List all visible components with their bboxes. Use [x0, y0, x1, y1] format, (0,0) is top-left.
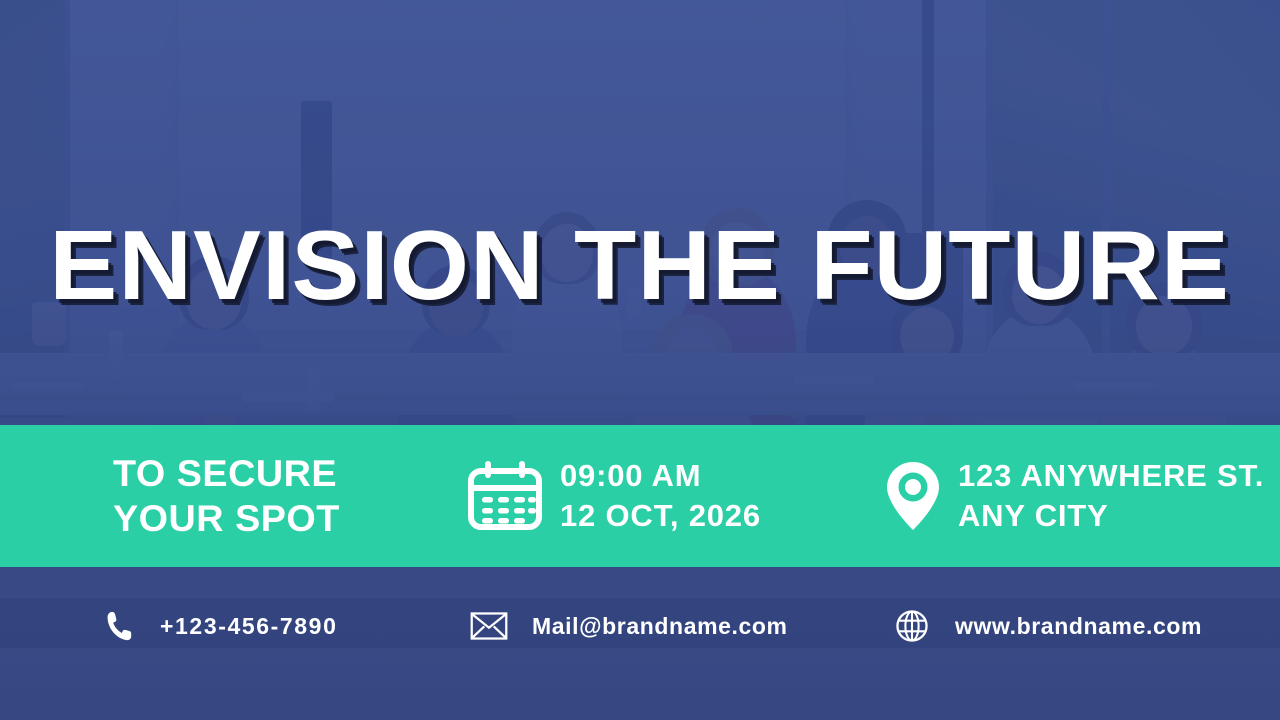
globe-icon	[893, 609, 931, 643]
website-url: www.brandname.com	[955, 613, 1202, 640]
location-block: 123 ANYWHERE ST. ANY CITY	[884, 456, 1264, 535]
cta-text: TO SECURE YOUR SPOT	[113, 451, 340, 541]
phone-icon	[100, 609, 138, 643]
event-date: 12 OCT, 2026	[560, 496, 761, 536]
event-time: 09:00 AM	[560, 456, 761, 496]
headline-container: ENVISION THE FUTURE	[0, 216, 1280, 314]
date-block: 09:00 AM 12 OCT, 2026	[466, 456, 761, 535]
contact-email[interactable]: Mail@brandname.com	[470, 609, 788, 643]
address-text: 123 ANYWHERE ST. ANY CITY	[958, 456, 1264, 535]
info-band: TO SECURE YOUR SPOT	[0, 425, 1280, 567]
cta-line-1: TO SECURE	[113, 451, 340, 496]
page-title: ENVISION THE FUTURE	[50, 216, 1231, 314]
contact-bar: +123-456-7890 Mail@brandname.com www.bra…	[0, 567, 1280, 720]
contact-website[interactable]: www.brandname.com	[893, 609, 1202, 643]
address-line-2: ANY CITY	[958, 496, 1264, 536]
event-banner: ENVISION THE FUTURE TO SECURE YOUR SPOT	[0, 0, 1280, 720]
calendar-icon	[466, 460, 544, 532]
address-line-1: 123 ANYWHERE ST.	[958, 456, 1264, 496]
envelope-icon	[470, 609, 508, 643]
location-pin-icon	[884, 460, 942, 532]
contact-phone[interactable]: +123-456-7890	[100, 609, 337, 643]
cta-block: TO SECURE YOUR SPOT	[113, 451, 335, 541]
date-text: 09:00 AM 12 OCT, 2026	[560, 456, 761, 535]
email-address: Mail@brandname.com	[532, 613, 788, 640]
phone-number: +123-456-7890	[160, 613, 337, 640]
cta-line-2: YOUR SPOT	[113, 496, 340, 541]
